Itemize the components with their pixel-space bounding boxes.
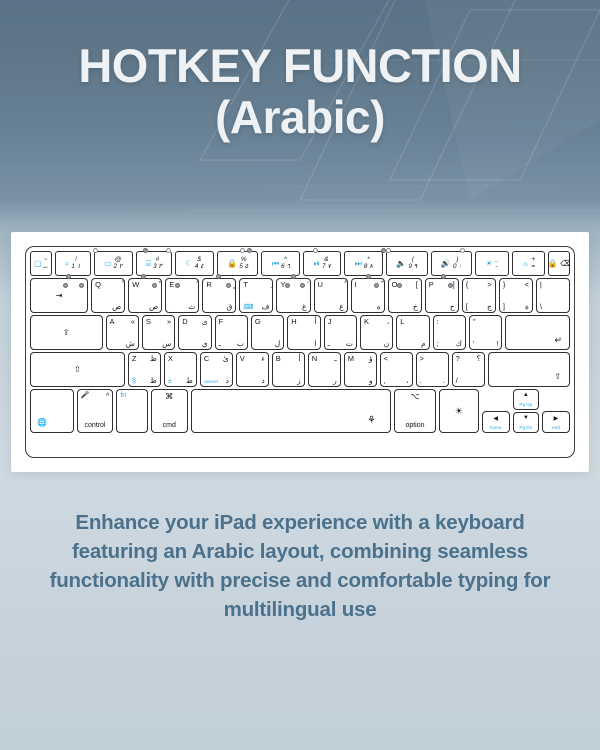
key-arabic-top: ظ: [150, 355, 157, 363]
return-icon: ↵: [554, 336, 562, 345]
key-period[interactable]: > . .: [416, 352, 449, 387]
key-option[interactable]: ⌥ option: [394, 389, 436, 433]
key-symbol: ±: [168, 377, 172, 385]
key-label: fn: [120, 392, 126, 399]
keyboard-row-z: ⇧ Z ظ § ظ X ± ط: [30, 352, 570, 387]
key-bottom-legend: 9 ٩: [408, 264, 417, 271]
caption-text: Enhance your iPad experience with a keyb…: [0, 508, 600, 624]
key-arabic-top: »: [167, 318, 171, 326]
key-arabic-top: أ: [299, 355, 301, 363]
key-arabic: ج: [487, 303, 492, 311]
key-label: control: [78, 422, 113, 429]
key-d[interactable]: D ى ي: [178, 315, 211, 350]
key-arabic: ح: [450, 303, 455, 311]
globe-icon: 🌐: [37, 419, 47, 427]
key-5-lock[interactable]: 🔒 % 5 ٥: [217, 251, 259, 276]
key-4-dnd[interactable]: ☾ $ 4 ٤: [175, 251, 214, 276]
screw-dot: [460, 248, 465, 253]
key-legend: % 5 ٥: [239, 257, 248, 270]
page-title-line1: HOTKEY FUNCTION: [78, 42, 521, 90]
previous-track-icon: ⏮: [272, 260, 279, 268]
arrow-key-cluster: ◀ home ▲ Pg Up ▼ Pg Dn: [482, 389, 570, 433]
key-arabic: ه: [377, 303, 381, 311]
key-shift-left[interactable]: ⇧: [30, 352, 125, 387]
key-latin: K: [364, 318, 369, 326]
key-6-previous[interactable]: ⏮ ^ 6 ٦: [261, 251, 300, 276]
key-arabic-top: ؤ: [369, 355, 373, 363]
screw-dot: [216, 274, 221, 279]
key-arabic: ي: [202, 340, 208, 348]
key-legend: ( 9 ٩: [408, 257, 417, 270]
key-shift-right[interactable]: ⇧: [488, 352, 571, 387]
key-arabic-top: >: [487, 281, 491, 289]
key-latin: Z: [132, 355, 137, 363]
screw-dot: [175, 283, 180, 288]
key-e[interactable]: E ٌ ث: [165, 278, 199, 313]
key-legend: _ -: [495, 257, 499, 270]
poster-root: HOTKEY FUNCTION (Arabic) ▢ ~ ـ،: [0, 0, 600, 750]
key-label: Pg Dn: [514, 425, 538, 430]
key-backslash[interactable]: | \: [536, 278, 570, 313]
key-arabic: \: [540, 303, 542, 311]
key-u[interactable]: U ُ ع: [314, 278, 348, 313]
key-bottom-legend: 5 ٥: [239, 264, 248, 271]
key-legend: $ 4 ٤: [195, 257, 204, 270]
volume-up-icon: 🔊: [441, 260, 451, 268]
key-arabic: م: [421, 340, 426, 348]
arrow-vertical-pair: ▲ Pg Up ▼ Pg Dn: [513, 389, 539, 433]
arrow-left-icon: ◀: [483, 415, 509, 422]
key-latin: A: [110, 318, 115, 326]
key-label: home: [483, 425, 509, 430]
key-legend: ) 0 ٠: [453, 257, 462, 270]
key-7-playpause[interactable]: ⏯ & 7 ٧: [303, 251, 341, 276]
screw-dot: [226, 283, 231, 288]
shift-icon: ⇧: [31, 353, 124, 386]
key-latin-alt: ]: [503, 303, 505, 311]
screw-dot: [397, 283, 402, 288]
key-symbol: §: [132, 377, 136, 385]
key-arabic: ض: [112, 303, 121, 311]
key-bottom-legend: -: [495, 264, 497, 271]
key-8-next[interactable]: ⏭ * 8 ٨: [344, 251, 383, 276]
key-s[interactable]: S » س: [142, 315, 175, 350]
key-latin: V: [240, 355, 245, 363]
key-arabic: ر: [333, 377, 337, 385]
key-latin: }: [503, 281, 506, 289]
key-latin: >: [420, 355, 424, 363]
key-1-search[interactable]: ⌕ ! 1 ١: [55, 251, 91, 276]
key-arabic: ظ: [150, 377, 157, 385]
key-bracket-left[interactable]: { > [ ج: [462, 278, 496, 313]
key-arabic: ص: [149, 303, 158, 311]
key-latin: I: [355, 281, 357, 289]
shift-icon: ⇧: [554, 373, 561, 381]
key-arabic: ل: [275, 340, 280, 348]
key-i[interactable]: I ّ ه: [351, 278, 385, 313]
screw-dot: [374, 283, 379, 288]
key-f[interactable]: F ـ ب: [215, 315, 248, 350]
brightness-down-icon: ☀: [485, 260, 492, 268]
key-latin: L: [400, 318, 404, 326]
key-legend: ^ 6 ٦: [281, 257, 290, 270]
key-f1-mission-control[interactable]: ▢ ~ ـ،: [30, 251, 52, 276]
key-arabic: د: [261, 377, 264, 385]
key-2-keyboard[interactable]: ▭ @ 2 ٢: [94, 251, 133, 276]
moon-icon: ☾: [186, 260, 193, 268]
key-latin: |: [540, 281, 542, 289]
key-arabic: ع: [339, 303, 343, 311]
key-latin-alt: ': [473, 340, 474, 348]
screw-dot: [366, 274, 371, 279]
key-return[interactable]: ↵: [505, 315, 570, 350]
screw-dot: [300, 283, 305, 288]
key-j[interactable]: J ـ ت: [324, 315, 357, 350]
key-arabic: ك: [456, 340, 462, 348]
key-legend: @ 2 ٢: [114, 257, 123, 270]
key-k[interactable]: K ، ن: [360, 315, 393, 350]
key-latin: B: [276, 355, 281, 363]
key-arabic: ث: [188, 303, 195, 311]
key-arabic: ف: [262, 303, 270, 311]
key-latin: T: [243, 281, 248, 289]
key-arabic: ت: [346, 340, 353, 348]
keyboard-row-q: ⇥ Q ْ ض W ً ص E: [30, 278, 570, 313]
key-backspace[interactable]: 🔒 ⌫: [548, 251, 570, 276]
key-arabic: ش: [126, 340, 135, 348]
key-arabic: ا: [315, 340, 317, 348]
key-arabic-top: [: [416, 281, 418, 289]
screw-dot: [79, 283, 84, 288]
connect-label: connect: [204, 380, 218, 384]
key-arabic: ز: [297, 377, 301, 385]
key-arabic-top: <: [524, 281, 528, 289]
key-m[interactable]: M ؤ و: [344, 352, 377, 387]
keyboard-body: ▢ ~ ـ، ⌕ ! 1 ١: [25, 246, 575, 458]
screw-dot: [381, 248, 386, 253]
key-latin: P: [429, 281, 434, 289]
key-latin: J: [328, 318, 332, 326]
key-latin: ": [473, 318, 476, 326]
key-brightness-up[interactable]: ☼ + =: [512, 251, 546, 276]
key-arabic: س: [162, 340, 171, 348]
key-latin: F: [219, 318, 224, 326]
key-caps-lock[interactable]: ⇪: [30, 315, 103, 350]
keyboard-keys-container: ▢ ~ ـ، ⌕ ! 1 ١: [30, 251, 570, 453]
screw-dot: [141, 274, 146, 279]
screw-dot: [152, 283, 157, 288]
key-legend: ~ ـ،: [44, 257, 48, 270]
arrow-right-icon: ▶: [543, 415, 569, 422]
key-arabic-top: ـ: [328, 340, 330, 348]
key-y[interactable]: Y َ غ: [276, 278, 310, 313]
key-arabic: و: [369, 377, 373, 385]
key-arabic: ق: [227, 303, 233, 311]
key-l[interactable]: L م: [396, 315, 429, 350]
key-arrow-left[interactable]: ◀ home: [482, 411, 510, 433]
key-latin: C: [204, 355, 209, 363]
next-track-icon: ⏭: [355, 260, 362, 268]
key-bottom-legend: 8 ٨: [364, 264, 373, 271]
key-arabic-top: ى: [202, 318, 208, 326]
option-icon: ⌥: [395, 392, 435, 401]
keyboard-row-function: ▢ ~ ـ، ⌕ ! 1 ١: [30, 251, 570, 276]
key-arrow-right[interactable]: ▶ end: [542, 411, 570, 433]
key-h[interactable]: H أ ا: [287, 315, 320, 350]
key-arabic: ط: [186, 377, 193, 385]
key-arabic: غ: [302, 303, 306, 311]
screw-dot: [441, 274, 446, 279]
key-legend: # 3 ٣: [153, 257, 162, 270]
page-title-line2: (Arabic): [215, 94, 385, 141]
key-glyph: ⌫: [560, 260, 570, 268]
key-arabic: .: [443, 377, 445, 385]
key-latin: :: [437, 318, 439, 326]
screw-dot: [448, 283, 453, 288]
key-latin: S: [146, 318, 151, 326]
key-quote[interactable]: " ' !: [469, 315, 502, 350]
key-control[interactable]: 🎤 ^ control: [77, 389, 114, 433]
key-bottom-legend: 2 ٢: [114, 264, 123, 271]
search-icon: ⌕: [65, 260, 69, 268]
backlight-icon: ☀: [440, 390, 478, 432]
key-arabic: خ: [413, 303, 418, 311]
key-p[interactable]: P ] ح: [425, 278, 459, 313]
keyboard-row-bottom: 🌐 🎤 ^ control fn ⌘ cmd: [30, 389, 570, 433]
key-latin: Q: [95, 281, 101, 289]
key-latin: <: [384, 355, 388, 363]
key-bottom-legend: 1 ١: [71, 264, 80, 271]
key-legend: & 7 ٧: [322, 257, 331, 270]
key-b[interactable]: B أ ز: [272, 352, 305, 387]
key-c[interactable]: C ئ connect ذ: [200, 352, 233, 387]
key-arabic-top: ]: [453, 281, 455, 289]
key-symbol: ^: [106, 392, 110, 400]
key-arabic-top: «: [131, 318, 135, 326]
key-command[interactable]: ⌘ cmd: [151, 389, 188, 433]
arrow-up-icon: ▲: [514, 392, 538, 398]
spotlight-icon: ⚘: [367, 416, 376, 426]
command-icon: ⌘: [152, 392, 187, 401]
key-z[interactable]: Z ظ § ظ: [128, 352, 161, 387]
key-9-volume-down[interactable]: 🔈 ( 9 ٩: [386, 251, 428, 276]
key-arabic: ن: [384, 340, 390, 348]
key-legend: ⌫: [560, 260, 570, 268]
screw-dot: [291, 274, 296, 279]
key-latin: H: [291, 318, 296, 326]
play-pause-icon: ⏯: [314, 260, 320, 268]
key-latin-alt: ,: [384, 377, 386, 385]
key-g[interactable]: G ل: [251, 315, 284, 350]
key-x[interactable]: X ± ط: [164, 352, 197, 387]
key-semicolon[interactable]: : ; ك: [433, 315, 466, 350]
key-arabic-top: ؟: [477, 355, 481, 363]
key-legend: + =: [531, 257, 535, 270]
key-globe[interactable]: 🌐: [30, 389, 74, 433]
key-comma[interactable]: < , ،: [380, 352, 413, 387]
key-arabic-top: ئ: [223, 355, 229, 363]
key-q[interactable]: Q ْ ض: [91, 278, 125, 313]
key-slash[interactable]: ? ؟ /: [452, 352, 485, 387]
header: HOTKEY FUNCTION (Arabic): [0, 0, 600, 220]
key-bracket-right[interactable]: } < ] ة: [499, 278, 533, 313]
key-latin: {: [466, 281, 469, 289]
key-latin: ?: [456, 355, 460, 363]
key-bottom-legend: 4 ٤: [195, 264, 204, 271]
keyboard-panel: ▢ ~ ـ، ⌕ ! 1 ١: [11, 232, 589, 472]
key-t[interactable]: T ِ ف ⌨: [239, 278, 273, 313]
key-v[interactable]: V ء د: [236, 352, 269, 387]
key-0-volume-up[interactable]: 🔊 ) 0 ٠: [431, 251, 473, 276]
lock-badge-icon: 🔒: [548, 260, 557, 268]
square-icon: ▢: [34, 260, 42, 268]
key-arabic-top: ء: [261, 355, 265, 363]
screw-dot: [313, 248, 318, 253]
key-3-dictation[interactable]: ⌸ # 3 ٣: [136, 251, 172, 276]
key-latin-alt: ;: [437, 340, 439, 348]
key-arabic-top: ،: [387, 318, 389, 326]
key-label: cmd: [152, 422, 187, 429]
key-legend: * 8 ٨: [364, 257, 373, 270]
key-bottom-legend: 6 ٦: [281, 264, 290, 271]
key-legend: ! 1 ١: [71, 257, 80, 270]
key-bottom-legend: ـ،: [44, 264, 48, 271]
key-bottom-legend: 7 ٧: [322, 264, 331, 271]
key-brightness-down[interactable]: ☀ _ -: [475, 251, 508, 276]
key-w[interactable]: W ً ص: [128, 278, 162, 313]
brightness-up-icon: ☼: [522, 260, 529, 268]
key-latin: D: [182, 318, 187, 326]
key-latin: M: [348, 355, 354, 363]
key-arrow-up[interactable]: ▲ Pg Up: [513, 389, 539, 410]
key-o[interactable]: O [ خ: [388, 278, 422, 313]
key-latin: U: [318, 281, 323, 289]
key-label: end: [543, 425, 569, 430]
key-arabic: ،: [406, 377, 408, 385]
screw-dot: [240, 248, 245, 253]
key-n[interactable]: N ـ ر: [308, 352, 341, 387]
key-r[interactable]: R ٍ ق: [202, 278, 236, 313]
key-arabic: ة: [525, 303, 529, 311]
arrow-down-icon: ▼: [514, 415, 538, 421]
key-arrow-down[interactable]: ▼ Pg Dn: [513, 412, 539, 433]
key-latin: R: [206, 281, 211, 289]
key-latin: E: [169, 281, 174, 289]
key-arabic-top: ـ: [335, 355, 337, 363]
bluetooth-connect-icon: ⌨: [243, 304, 253, 311]
key-arabic: !: [496, 340, 498, 348]
key-a[interactable]: A « ش: [106, 315, 139, 350]
key-latin-alt: [: [466, 303, 468, 311]
keyboard-row-a: ⇪ A « ش S » س D: [30, 315, 570, 350]
key-latin: N: [312, 355, 317, 363]
key-label: Pg Up: [514, 402, 538, 407]
key-arabic: ذ: [225, 377, 228, 385]
key-latin-alt: /: [456, 377, 458, 385]
caps-lock-icon: ⇪: [31, 316, 102, 349]
key-latin: G: [255, 318, 261, 326]
key-bottom-legend: =: [531, 264, 535, 271]
key-bottom-legend: 0 ٠: [453, 264, 462, 271]
lock-icon: 🔒: [227, 260, 237, 268]
dictation-icon: ⌸: [146, 260, 151, 268]
key-latin: W: [132, 281, 139, 289]
key-fn[interactable]: fn: [116, 389, 147, 433]
key-arabic-top: ـ: [219, 340, 221, 348]
key-bottom-legend: 3 ٣: [153, 264, 162, 271]
screw-dot: [93, 248, 98, 253]
key-latin: X: [168, 355, 173, 363]
mic-icon: 🎤: [81, 392, 90, 399]
key-latin-alt: .: [420, 377, 422, 385]
key-backlight[interactable]: ☀: [439, 389, 479, 433]
key-arabic: ب: [237, 340, 244, 348]
keyboard-icon: ▭: [104, 260, 112, 268]
key-label: option: [395, 422, 435, 429]
screw-dot: [66, 274, 71, 279]
key-space[interactable]: ⚘: [191, 389, 391, 433]
key-arabic-top: أ: [315, 318, 317, 326]
volume-down-icon: 🔈: [396, 260, 406, 268]
